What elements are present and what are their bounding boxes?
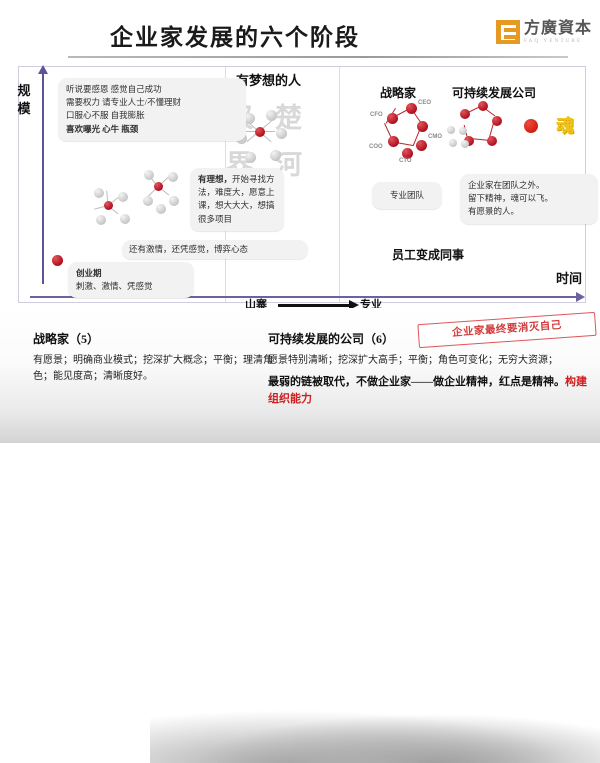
stage1-node — [52, 255, 63, 266]
x-axis-label: 时间 — [556, 268, 582, 287]
mountain-backdrop — [150, 703, 600, 763]
sustain-line-1: 企业家在团队之外。 — [468, 179, 590, 192]
progress-arrow-icon — [278, 304, 350, 307]
sustain-line-3: 有愿景的人。 — [468, 205, 590, 218]
page-title: 企业家发展的六个阶段 — [0, 18, 470, 52]
callout-passion-text: 还有激情，还凭感觉，博弈心态 — [129, 244, 248, 254]
org-label-cfo: CFO — [370, 112, 383, 118]
callout-startup-detail: 刺激、激情、凭感觉 — [76, 280, 186, 293]
summary-body-right: 愿景特别清晰；挖深扩大高手；平衡；角色可变化；无穷大资源； — [268, 353, 593, 369]
logo-mark-icon — [496, 20, 520, 44]
column-divider-2 — [339, 67, 340, 302]
callout-pro-team: 专业团队 — [372, 182, 442, 209]
callout-line-2: 需要权力 请专业人士/不懂理财 — [66, 96, 238, 109]
logo-name-cn: 方廣資本 — [524, 21, 592, 37]
brand-logo: 方廣資本 FAQ VENTURE — [496, 20, 592, 44]
org-label-cmo: CMO — [428, 134, 442, 140]
callout-bold-lead: 有理想， — [198, 174, 232, 184]
org-label-cto: CTO — [399, 158, 412, 164]
heading-sustainable-company: 可持续发展公司 — [452, 84, 536, 101]
callout-line-1: 听说要感恩 感觉自己成功 — [66, 83, 238, 96]
summary-body-left: 有愿景；明确商业模式；挖深扩大概念；平衡；理清角色；能见度高；清晰度好。 — [33, 353, 278, 384]
soul-label: 魂 — [556, 112, 574, 138]
org-label-coo: COO — [369, 144, 383, 150]
summary-strong-text: 最弱的链被取代，不做企业家——做企业精神，红点是精神。 — [268, 376, 565, 388]
sustain-line-2: 留下精神，魂可以飞。 — [468, 192, 590, 205]
summary-strong-right: 最弱的链被取代，不做企业家——做企业精神，红点是精神。构建组织能力 — [268, 374, 593, 408]
y-axis-label: 规模 — [14, 82, 34, 117]
heading-strategist: 战略家 — [380, 84, 416, 101]
callout-stage1-startup: 创业期 刺激、激情、凭感觉 — [68, 262, 194, 298]
logo-name-en: FAQ VENTURE — [524, 39, 592, 44]
callout-stage3-ideals: 有理想，开始寻找方法，难度大，愿意上课，想大大大，想搞很多项目 — [190, 168, 284, 231]
y-axis — [42, 72, 44, 284]
summary-heading-left: 战略家（5） — [33, 330, 278, 347]
org-label-ceo: CEO — [418, 100, 431, 106]
callout-sustainable: 企业家在团队之外。 留下精神，魂可以飞。 有愿景的人。 — [460, 174, 598, 224]
callout-stage4-traits: 听说要感恩 感觉自己成功 需要权力 请专业人士/不懂理财 口服心不服 自我膨胀 … — [58, 78, 246, 141]
callout-pro-team-text: 专业团队 — [390, 190, 424, 200]
heading-staff-to-colleague: 员工变成同事 — [392, 246, 464, 263]
founder-detached-node — [524, 119, 538, 133]
slide-canvas: 企业家发展的六个阶段 方廣資本 FAQ VENTURE 汉 楚 界 河 规模 时… — [0, 0, 600, 443]
callout-line-4: 喜欢曝光 心牛 瓶颈 — [66, 123, 238, 136]
callout-startup-title: 创业期 — [76, 267, 186, 280]
title-divider — [68, 56, 568, 58]
summary-column-strategist: 战略家（5） 有愿景；明确商业模式；挖深扩大概念；平衡；理清角色；能见度高；清晰… — [33, 330, 278, 384]
callout-line-3: 口服心不服 自我膨胀 — [66, 109, 238, 122]
callout-stage2-passion: 还有激情，还凭感觉，博弈心态 — [122, 240, 308, 259]
